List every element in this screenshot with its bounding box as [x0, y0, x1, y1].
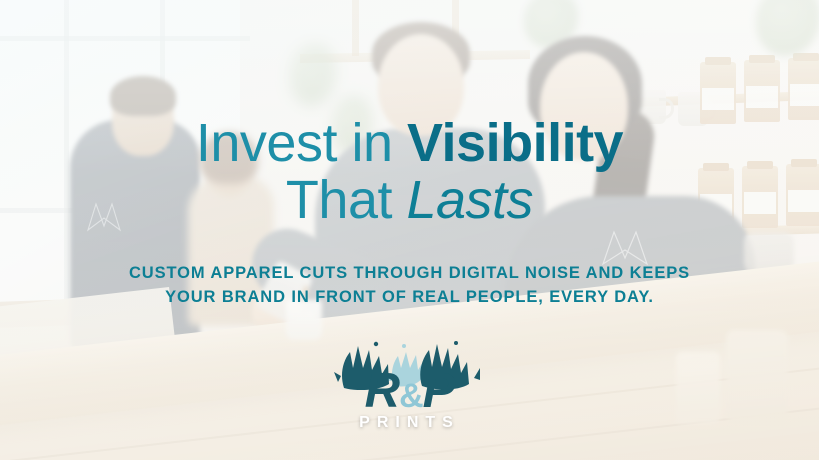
headline-line-2-regular: That — [286, 170, 407, 230]
headline-line-2: That Lasts — [0, 173, 819, 228]
subheadline-line-2: your brand in front of real people, ever… — [80, 286, 740, 310]
logo-letter-r: R — [365, 364, 399, 418]
headline-line-1: Invest in Visibility — [0, 116, 819, 171]
logo-wordmark-prints: PRINTS — [330, 414, 490, 432]
logo-letter-p: P — [423, 364, 455, 418]
brand-logo: R&P PRINTS — [330, 338, 490, 442]
logo-wordmark-rp: R&P — [330, 366, 490, 416]
headline-line-2-italic: Lasts — [406, 170, 533, 230]
headline-line-1-bold: Visibility — [407, 113, 623, 173]
logo-ampersand: & — [399, 377, 423, 415]
headline: Invest in Visibility That Lasts — [0, 116, 819, 228]
subheadline: Custom apparel cuts through digital nois… — [80, 262, 740, 310]
headline-line-1-regular: Invest in — [196, 113, 407, 173]
promotional-banner: Invest in Visibility That Lasts Custom a… — [0, 0, 819, 460]
subheadline-line-1: Custom apparel cuts through digital nois… — [80, 262, 740, 286]
